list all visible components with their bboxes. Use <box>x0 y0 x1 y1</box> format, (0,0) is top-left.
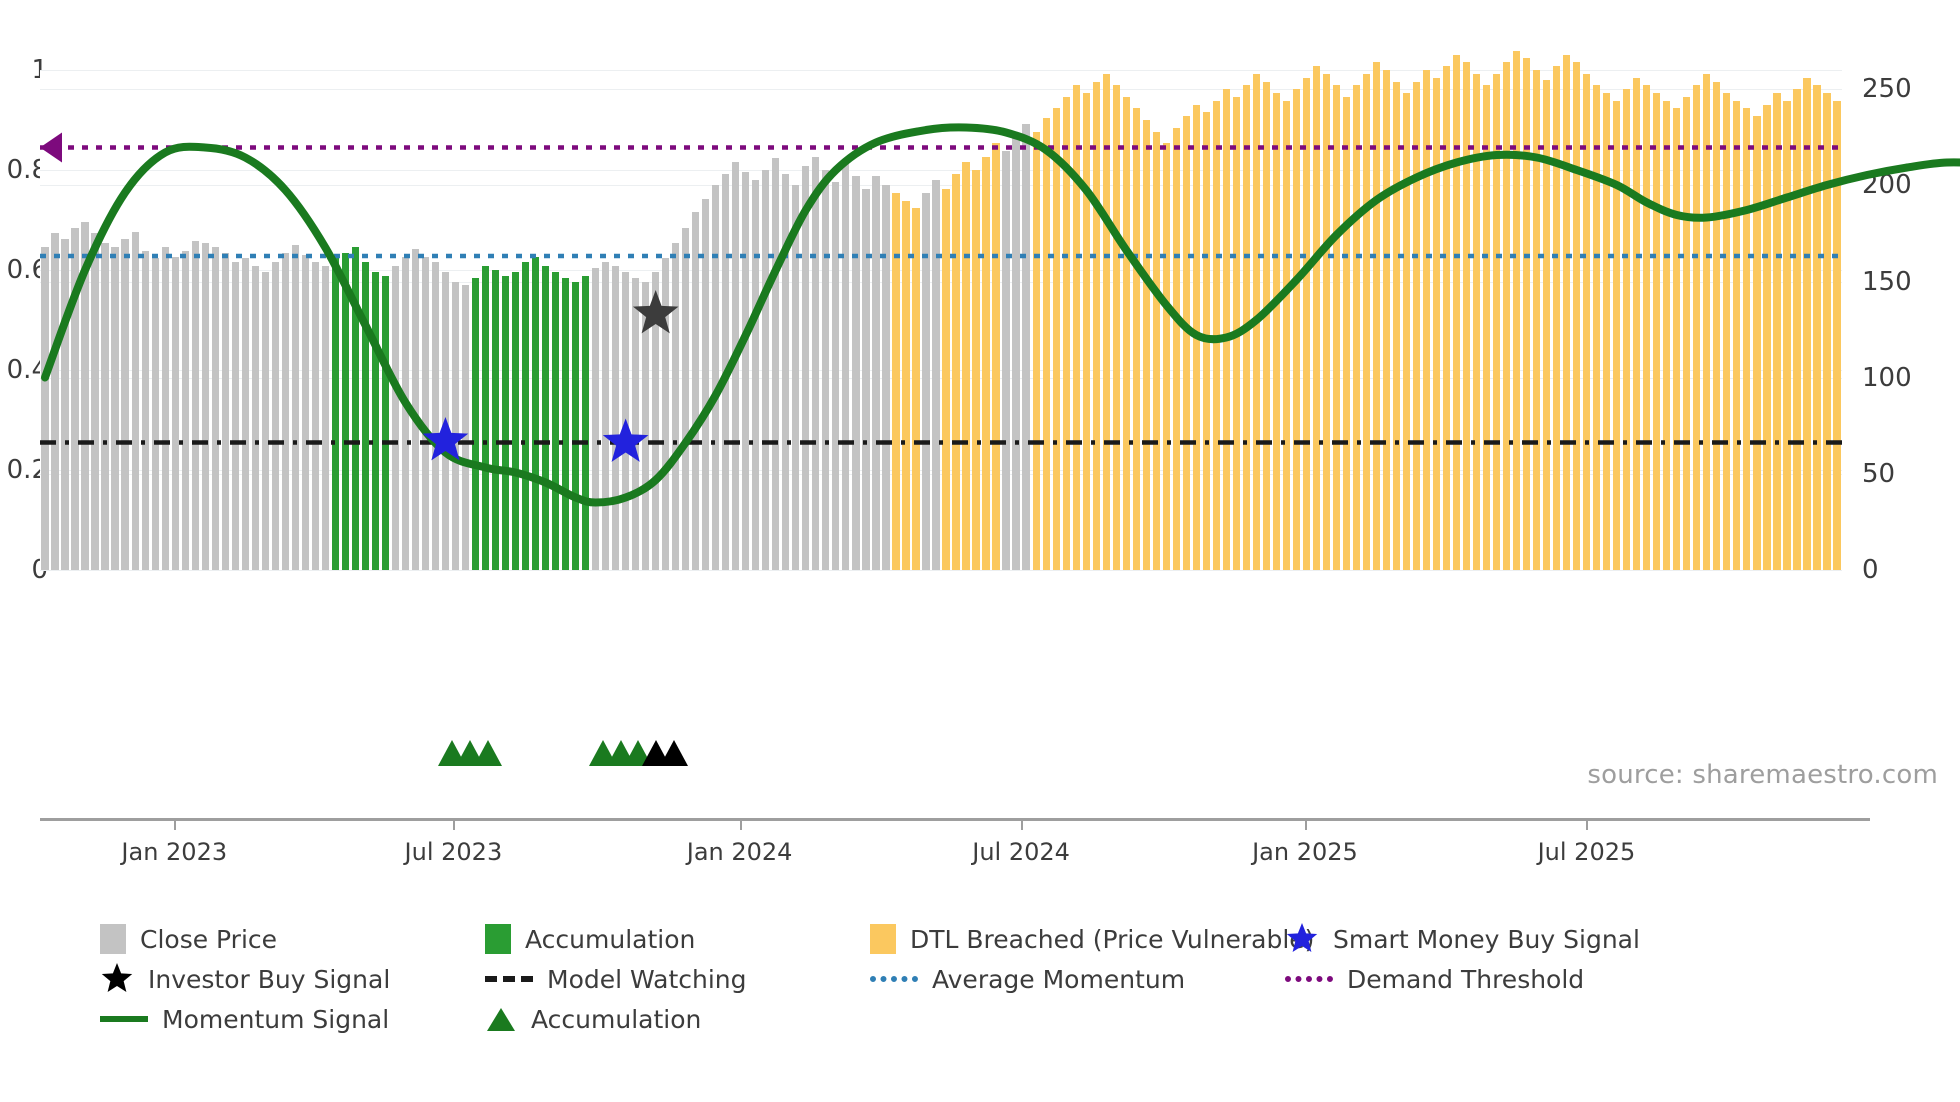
plot-area <box>40 70 1842 570</box>
legend-dotted-line-icon <box>1285 976 1333 982</box>
x-tick-mark <box>453 818 455 830</box>
legend-row: Close PriceAccumulationDTL Breached (Pri… <box>100 920 1930 958</box>
legend-swatch-icon <box>100 924 126 954</box>
x-tick-mark <box>1586 818 1588 830</box>
investor-buy-triangle-marker <box>660 740 688 766</box>
x-tick-label: Jan 2023 <box>121 838 227 866</box>
legend-label: Momentum Signal <box>162 1005 389 1034</box>
legend-label: Model Watching <box>547 965 747 994</box>
legend-smart-money[interactable]: Smart Money Buy Signal <box>1285 920 1640 958</box>
legend-accumulation-triangle[interactable]: Accumulation <box>485 1000 701 1038</box>
source-note: source: sharemaestro.com <box>1587 760 1938 790</box>
legend-demand-threshold[interactable]: Demand Threshold <box>1285 960 1584 998</box>
legend-swatch-icon <box>485 924 511 954</box>
smart-money-buy-signal-marker <box>603 419 649 462</box>
y-tick-right: 0 <box>1862 555 1879 585</box>
legend-swatch-icon <box>870 924 896 954</box>
x-axis-line <box>40 818 1870 821</box>
legend-star-icon <box>100 962 134 996</box>
legend-model-watching[interactable]: Model Watching <box>485 960 747 998</box>
demand-threshold-end-marker <box>40 133 62 163</box>
legend: Close PriceAccumulationDTL Breached (Pri… <box>100 920 1930 1040</box>
legend-dotted-line-icon <box>870 976 918 982</box>
legend-label: Close Price <box>140 925 277 954</box>
legend-dtl-breached[interactable]: DTL Breached (Price Vulnerable) <box>870 920 1314 958</box>
legend-label: DTL Breached (Price Vulnerable) <box>910 925 1314 954</box>
y-tick-right: 150 <box>1862 267 1912 297</box>
legend-star-icon <box>1285 922 1319 956</box>
y-tick-right: 100 <box>1862 363 1912 393</box>
x-tick-mark <box>1305 818 1307 830</box>
investor-buy-signal-marker <box>633 290 679 333</box>
legend-label: Investor Buy Signal <box>148 965 390 994</box>
legend-row: Investor Buy SignalModel WatchingAverage… <box>100 960 1930 998</box>
y-tick-right: 250 <box>1862 74 1912 104</box>
x-tick-label: Jan 2025 <box>1252 838 1358 866</box>
legend-average-momentum[interactable]: Average Momentum <box>870 960 1185 998</box>
x-tick-label: Jul 2025 <box>1538 838 1636 866</box>
x-tick-mark <box>740 818 742 830</box>
x-tick-label: Jul 2024 <box>972 838 1070 866</box>
x-tick-mark <box>1021 818 1023 830</box>
legend-accumulation-bar[interactable]: Accumulation <box>485 920 695 958</box>
chart-root: 00.20.40.60.81 050100150200250 Jan 2023J… <box>0 0 1960 1102</box>
x-tick-mark <box>174 818 176 830</box>
x-tick-label: Jan 2024 <box>687 838 793 866</box>
legend-label: Demand Threshold <box>1347 965 1584 994</box>
legend-dashed-line-icon <box>485 976 533 982</box>
momentum-signal-line <box>45 127 1960 502</box>
y-tick-right: 50 <box>1862 459 1895 489</box>
accumulation-triangle-marker <box>474 740 502 766</box>
legend-line-icon <box>100 1016 148 1022</box>
legend-label: Accumulation <box>525 925 695 954</box>
legend-label: Accumulation <box>531 1005 701 1034</box>
legend-close-price[interactable]: Close Price <box>100 920 277 958</box>
overlay-lines <box>40 70 1842 570</box>
gridline <box>40 570 1842 571</box>
legend-label: Smart Money Buy Signal <box>1333 925 1640 954</box>
legend-triangle-icon <box>485 1004 517 1034</box>
legend-label: Average Momentum <box>932 965 1185 994</box>
x-tick-label: Jul 2023 <box>405 838 503 866</box>
legend-row: Momentum SignalAccumulation <box>100 1000 1930 1038</box>
legend-investor-buy[interactable]: Investor Buy Signal <box>100 960 390 998</box>
legend-momentum-signal[interactable]: Momentum Signal <box>100 1000 389 1038</box>
